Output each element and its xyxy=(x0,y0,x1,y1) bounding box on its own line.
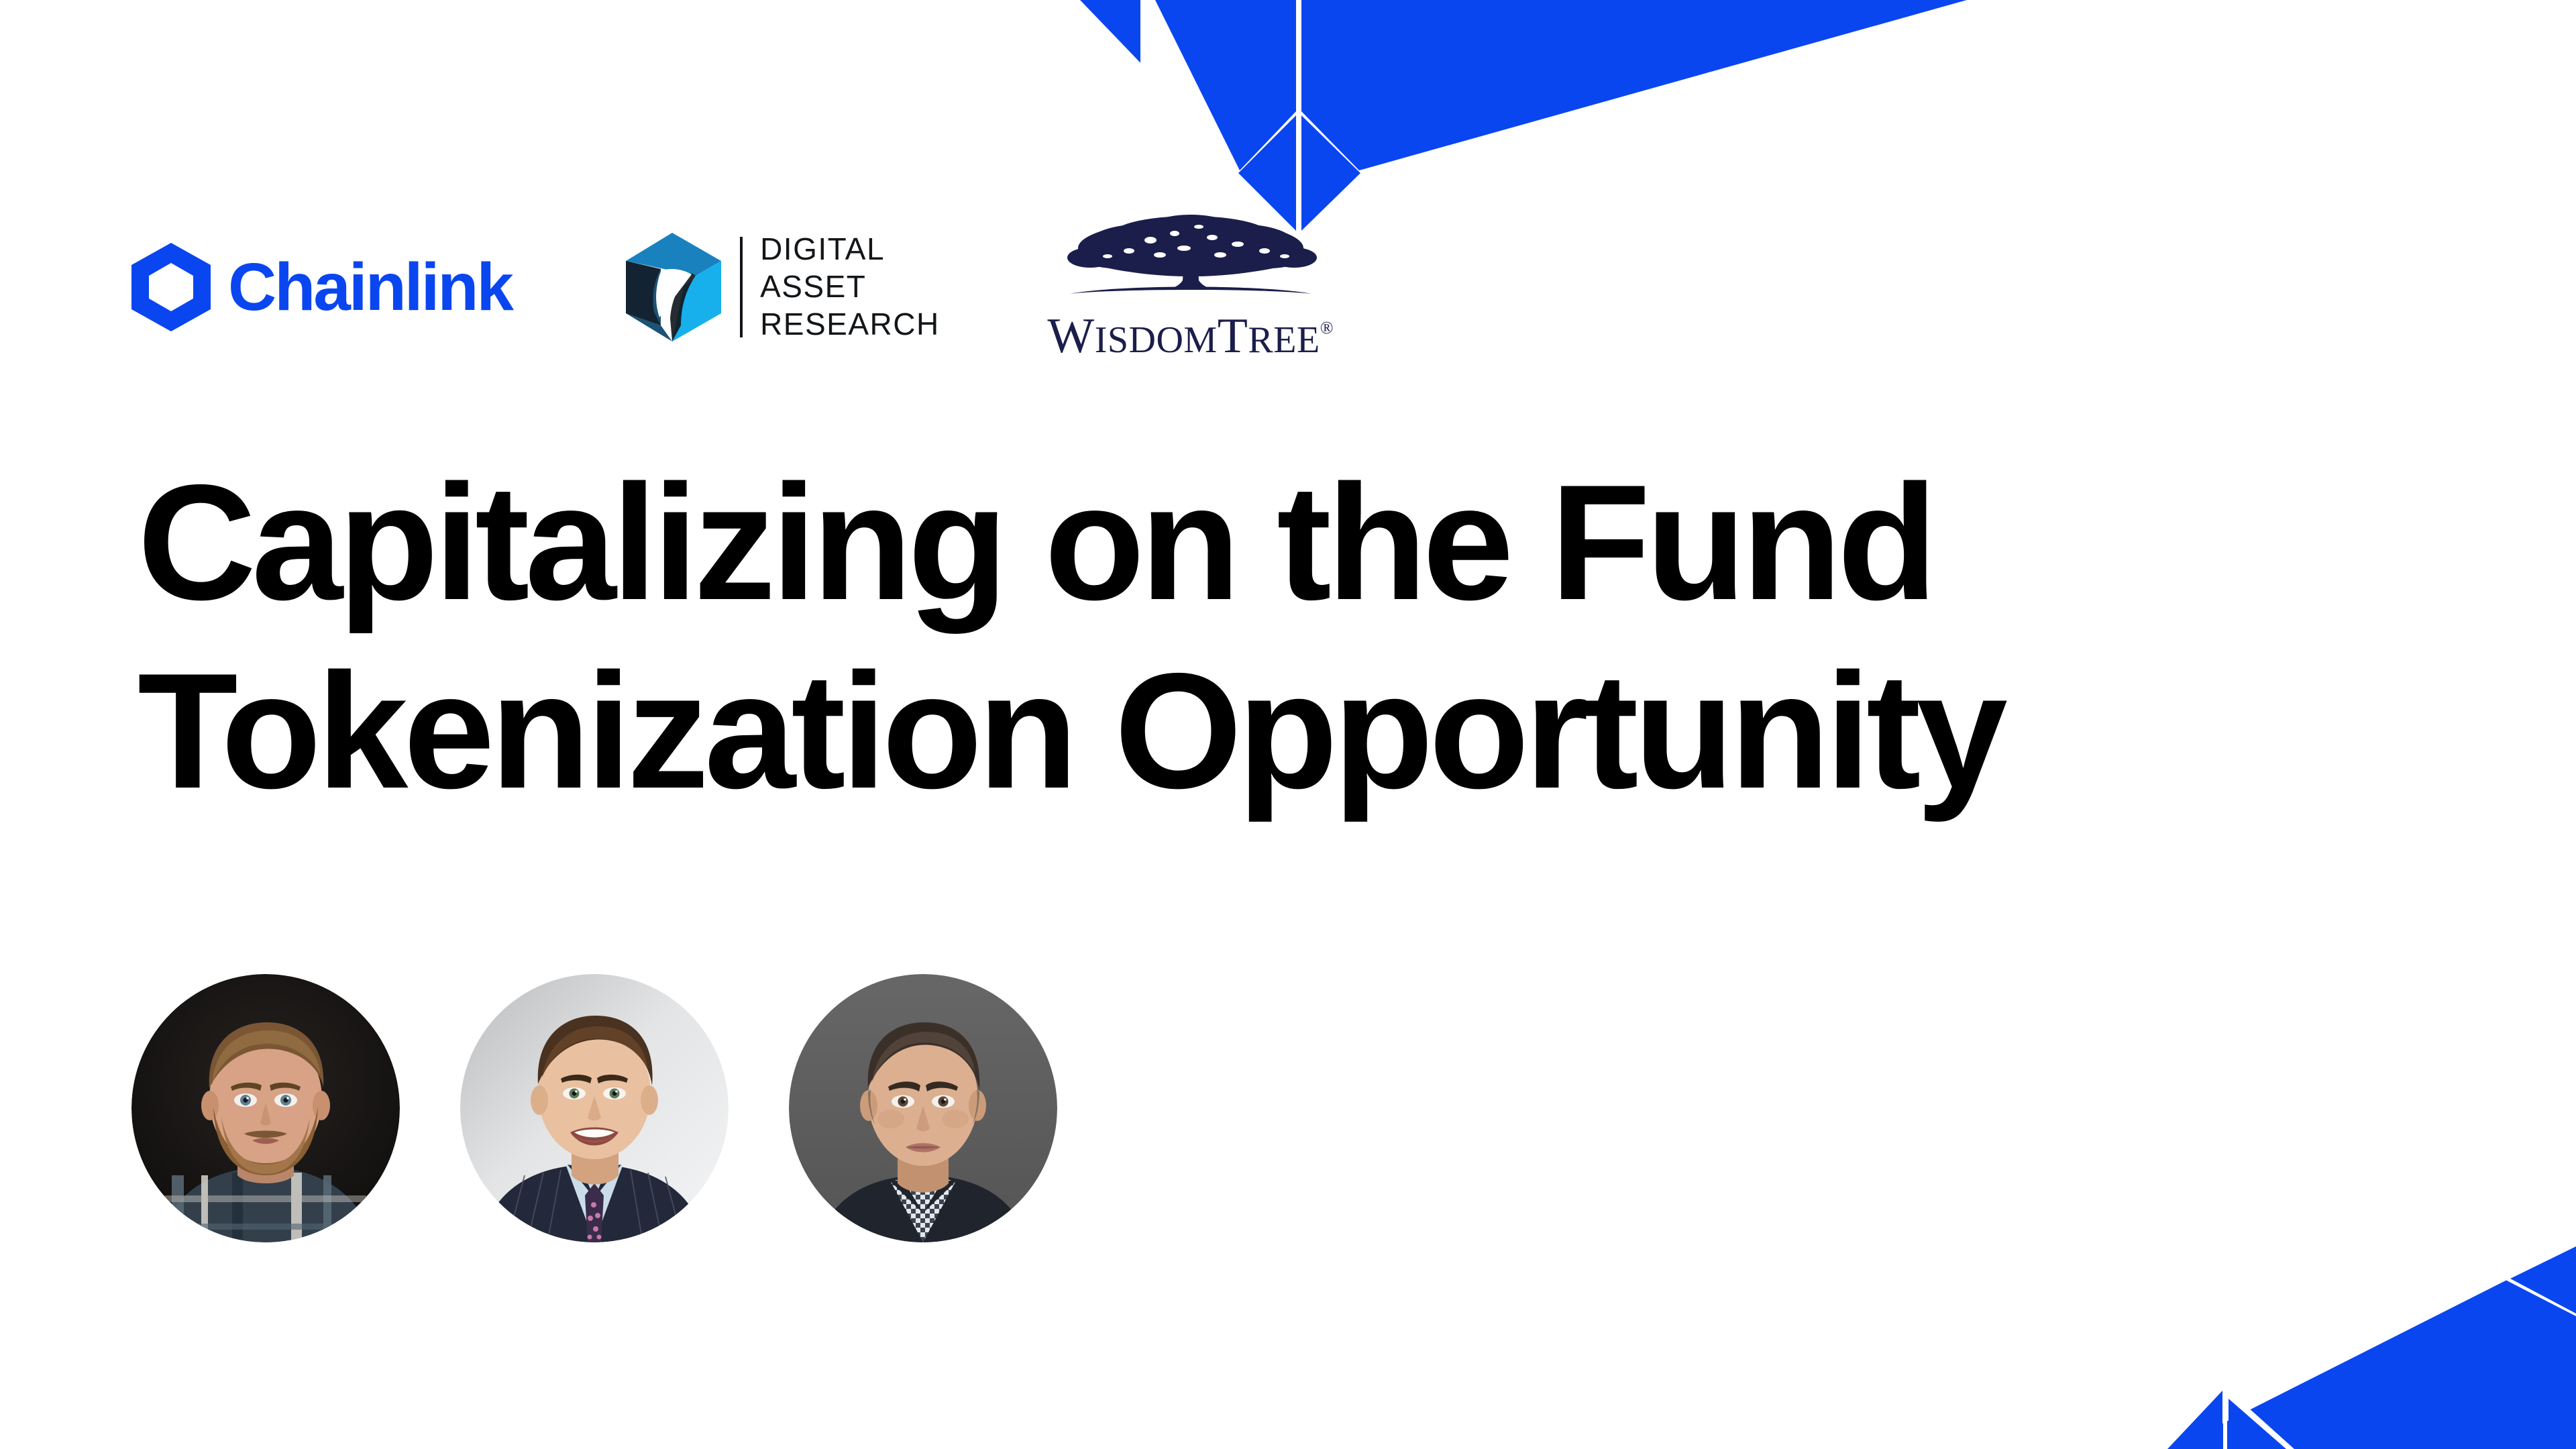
partner-logo-row: Chainlink DIG xyxy=(131,213,1338,361)
chainlink-hexagon-icon xyxy=(131,243,211,331)
digital-asset-research-logo: DIGITAL ASSET RESEARCH xyxy=(622,213,940,361)
chainlink-wordmark: Chainlink xyxy=(228,254,512,321)
dar-cube-icon xyxy=(622,231,722,343)
dar-line-research: RESEARCH xyxy=(760,307,940,343)
wisdomtree-logo: WISDOMTREE® xyxy=(1043,213,1338,361)
wt-isdom: ISDOM xyxy=(1095,319,1218,361)
speaker-avatar-2 xyxy=(460,974,729,1242)
wt-w: W xyxy=(1047,309,1094,364)
wt-ree: REE xyxy=(1248,319,1320,361)
headline-line-2: Tokenization Opportunity xyxy=(138,637,2231,825)
dar-line-digital: DIGITAL xyxy=(760,231,940,268)
dar-divider-rule xyxy=(740,237,743,337)
wisdomtree-wordmark: WISDOMTREE® xyxy=(1047,311,1334,361)
wisdomtree-tree-icon xyxy=(1043,213,1338,314)
dar-wordmark: DIGITAL ASSET RESEARCH xyxy=(760,231,940,342)
wt-t: T xyxy=(1218,309,1248,364)
speaker-avatar-1 xyxy=(131,974,400,1242)
headline-line-1: Capitalizing on the Fund xyxy=(138,448,2231,637)
wt-registered-icon: ® xyxy=(1320,318,1334,337)
dar-line-asset: ASSET xyxy=(760,269,940,305)
chainlink-logo: Chainlink xyxy=(131,213,512,361)
speaker-avatar-row xyxy=(131,974,1057,1242)
page-title: Capitalizing on the Fund Tokenization Op… xyxy=(138,448,2231,824)
speaker-avatar-3 xyxy=(789,974,1057,1242)
